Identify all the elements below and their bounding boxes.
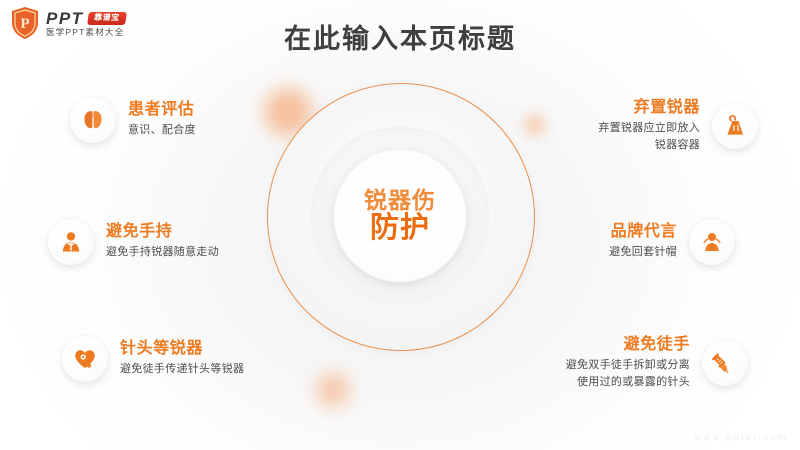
page-title: 在此输入本页标题 <box>0 17 800 56</box>
doctor-person-icon <box>48 219 94 265</box>
item-patient-assessment[interactable]: 患者评估 意识、配合度 <box>70 97 196 143</box>
item-discard-sharps[interactable]: 弃置锐器 弃置锐器应立即放入 锐器容器 <box>598 99 758 153</box>
item-description: 意识、配合度 <box>128 122 196 139</box>
decorative-dot <box>524 114 546 136</box>
person-icon <box>689 219 735 265</box>
item-description: 避免徒手传递针头等锐器 <box>120 361 244 378</box>
item-brand-endorsement[interactable]: 品牌代言 避免回套针帽 <box>609 219 735 265</box>
item-title: 患者评估 <box>128 101 194 119</box>
item-title: 避免手持 <box>106 223 172 241</box>
item-title: 避免徒手 <box>624 336 690 354</box>
item-description: 弃置锐器应立即放入 锐器容器 <box>598 120 700 153</box>
item-title: 针头等锐器 <box>120 340 203 358</box>
item-title: 品牌代言 <box>611 223 677 241</box>
item-avoid-barehand[interactable]: 避免徒手 避免双手徒手拆卸或分离 使用过的或暴露的针头 <box>566 336 748 390</box>
slide-canvas: P PPT 靠谱宝 医学PPT素材大全 在此输入本页标题 锐器伤 防护 <box>0 0 800 450</box>
kidneys-icon <box>70 97 116 143</box>
item-description: 避免双手徒手拆卸或分离 使用过的或暴露的针头 <box>566 357 690 390</box>
item-description: 避免手持锐器随意走动 <box>106 244 219 261</box>
syringe-icon <box>702 340 748 386</box>
center-label: 锐器伤 防护 <box>334 150 466 282</box>
item-needles-sharps[interactable]: 针头等锐器 避免徒手传递针头等锐器 <box>62 336 244 382</box>
sharps-container-icon <box>712 103 758 149</box>
item-avoid-handheld[interactable]: 避免手持 避免手持锐器随意走动 <box>48 219 219 265</box>
center-line-2: 防护 <box>370 213 430 243</box>
heart-stethoscope-icon <box>62 336 108 382</box>
item-title: 弃置锐器 <box>634 99 700 117</box>
decorative-dot <box>316 373 350 407</box>
footer-watermark: www.ppter.com <box>694 432 788 442</box>
item-description: 避免回套针帽 <box>609 244 677 261</box>
center-line-1: 锐器伤 <box>364 188 436 212</box>
